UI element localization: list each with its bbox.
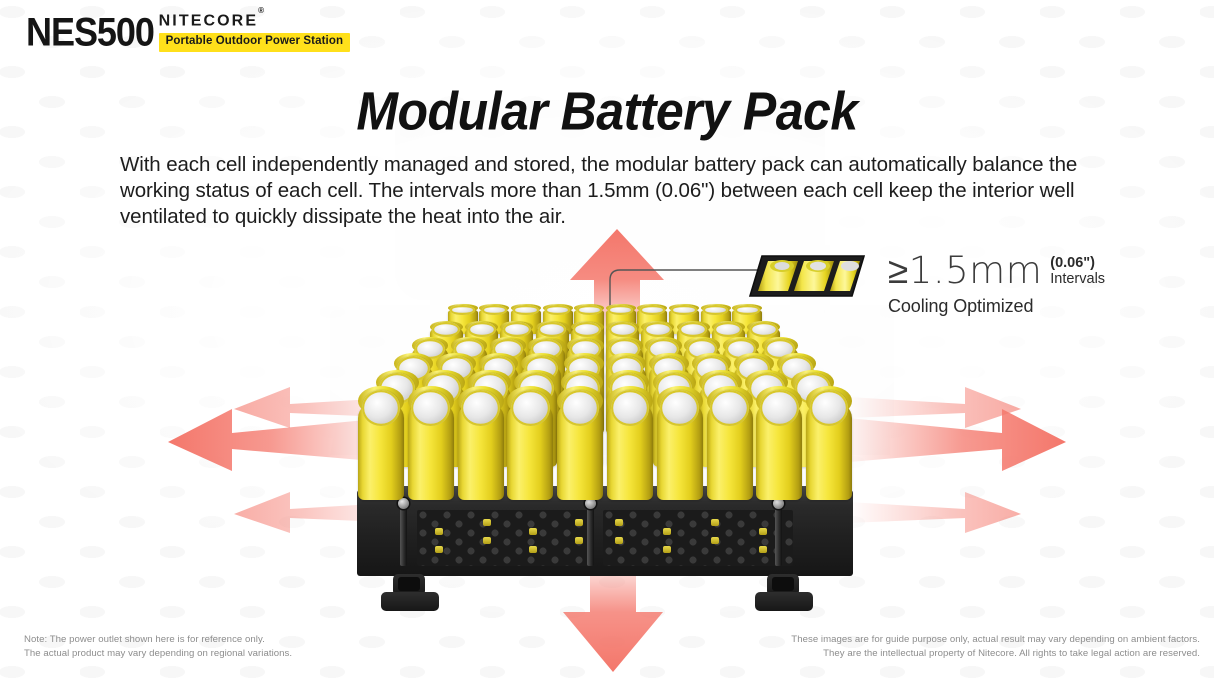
vent-indicator (711, 519, 719, 526)
cell-terminal-icon (644, 322, 672, 337)
battery-tray (355, 486, 855, 611)
footnote-left-line1: Note: The power outlet shown here is for… (24, 633, 292, 647)
cell-terminal-icon (714, 322, 742, 337)
cell-terminal-icon (573, 322, 601, 337)
heat-arrow-right (838, 405, 1068, 475)
screw-rail-left (400, 504, 407, 566)
cell-terminal-icon (611, 390, 650, 426)
stand-base-right (755, 592, 813, 611)
battery-cell (657, 400, 703, 500)
footnote-right-line1: These images are for guide purpose only,… (791, 633, 1200, 647)
cell-terminal-icon (609, 322, 637, 337)
screw-rail-mid (587, 504, 594, 566)
cell-terminal-icon (503, 322, 531, 337)
cell-terminal-icon (461, 390, 500, 426)
battery-cell (507, 400, 553, 500)
battery-cell (557, 400, 603, 500)
body-text: With each cell independently managed and… (120, 152, 1095, 230)
vent-indicator (435, 546, 443, 553)
brand-header: NES500 NITECORE® Portable Outdoor Power … (26, 10, 350, 52)
vent-indicator (615, 537, 623, 544)
cell-terminal-icon (710, 390, 749, 426)
cell-gap-inset (748, 252, 866, 300)
vent-indicator (529, 546, 537, 553)
brand-block: NITECORE® Portable Outdoor Power Station (159, 10, 350, 52)
stand-base-left (381, 592, 439, 611)
footnote-right-line2: They are the intellectual property of Ni… (791, 647, 1200, 661)
heat-arrow-right-upper (848, 385, 1023, 430)
hex-vent-texture-left (417, 510, 590, 566)
cell-terminal-icon (810, 390, 849, 426)
vent-indicator (759, 546, 767, 553)
cell-terminal-icon (679, 322, 707, 337)
footnote-left-line2: The actual product may vary depending on… (24, 647, 292, 661)
measurement-unit-block: (0.06") Intervals (1050, 252, 1105, 287)
cell-terminal-icon (640, 305, 665, 314)
cooling-optimized-label: Cooling Optimized (888, 296, 1188, 317)
battery-cell (707, 400, 753, 500)
callout-text-block: ≥1.5mm (0.06") Intervals Cooling Optimiz… (888, 252, 1188, 317)
vent-indicator (575, 537, 583, 544)
vent-indicator (759, 528, 767, 535)
hex-vent-texture-right (603, 510, 793, 566)
cell-terminal-icon (432, 322, 460, 337)
cell-terminal-icon (660, 390, 699, 426)
interval-inches: (0.06") (1050, 256, 1105, 271)
screw-rail-right (775, 504, 782, 566)
battery-cell-array (355, 290, 855, 505)
cell-terminal-icon (577, 305, 602, 314)
cell-terminal-icon (545, 305, 570, 314)
stand-foot-right-slot (772, 577, 794, 591)
vent-indicator (435, 528, 443, 535)
cell-terminal-icon (411, 390, 450, 426)
vent-indicator (615, 519, 623, 526)
vent-indicator (711, 537, 719, 544)
vent-panel-right (603, 510, 793, 566)
battery-cell (806, 400, 852, 500)
page-title: Modular Battery Pack (0, 80, 1214, 143)
cell-terminal-icon (482, 305, 507, 314)
footnote-left: Note: The power outlet shown here is for… (24, 633, 292, 661)
cell-terminal-icon (703, 305, 728, 314)
vent-indicator (483, 519, 491, 526)
vent-indicator (483, 537, 491, 544)
cell-terminal-icon (671, 305, 696, 314)
battery-cell (607, 400, 653, 500)
vent-indicator (663, 528, 671, 535)
cell-terminal-icon (538, 322, 566, 337)
poster-canvas: NES500 NITECORE® Portable Outdoor Power … (0, 0, 1214, 683)
body-paragraph: With each cell independently managed and… (120, 152, 1095, 230)
interval-measurement: ≥1.5mm (888, 252, 1042, 290)
vent-indicator (663, 546, 671, 553)
heat-arrow-right-lower (848, 490, 1023, 535)
stand-foot-left-slot (398, 577, 420, 591)
cell-terminal-icon (362, 390, 401, 426)
cell-terminal-icon (468, 322, 496, 337)
brand-name: NITECORE® (159, 13, 350, 29)
registered-mark-icon: ® (258, 6, 264, 15)
cell-terminal-icon (750, 322, 778, 337)
model-name: NES500 (26, 10, 154, 52)
tagline-badge: Portable Outdoor Power Station (159, 33, 350, 52)
vent-indicator (529, 528, 537, 535)
cell-terminal-icon (513, 305, 538, 314)
vent-panel-left (417, 510, 590, 566)
battery-cell (408, 400, 454, 500)
measurement-row: ≥1.5mm (0.06") Intervals (888, 252, 1188, 290)
battery-cell (458, 400, 504, 500)
cell-terminal-icon (450, 305, 475, 314)
brand-name-text: NITECORE (159, 12, 258, 29)
footnote-right: These images are for guide purpose only,… (791, 633, 1200, 661)
vent-indicator (575, 519, 583, 526)
battery-cell (358, 400, 404, 500)
cell-terminal-icon (760, 390, 799, 426)
interval-label: Intervals (1050, 271, 1105, 287)
cell-terminal-icon (561, 390, 600, 426)
cell-terminal-icon (511, 390, 550, 426)
cell-terminal-icon (735, 305, 760, 314)
battery-cell (756, 400, 802, 500)
cell-terminal-icon (608, 305, 633, 314)
battery-pack-illustration (355, 290, 855, 610)
